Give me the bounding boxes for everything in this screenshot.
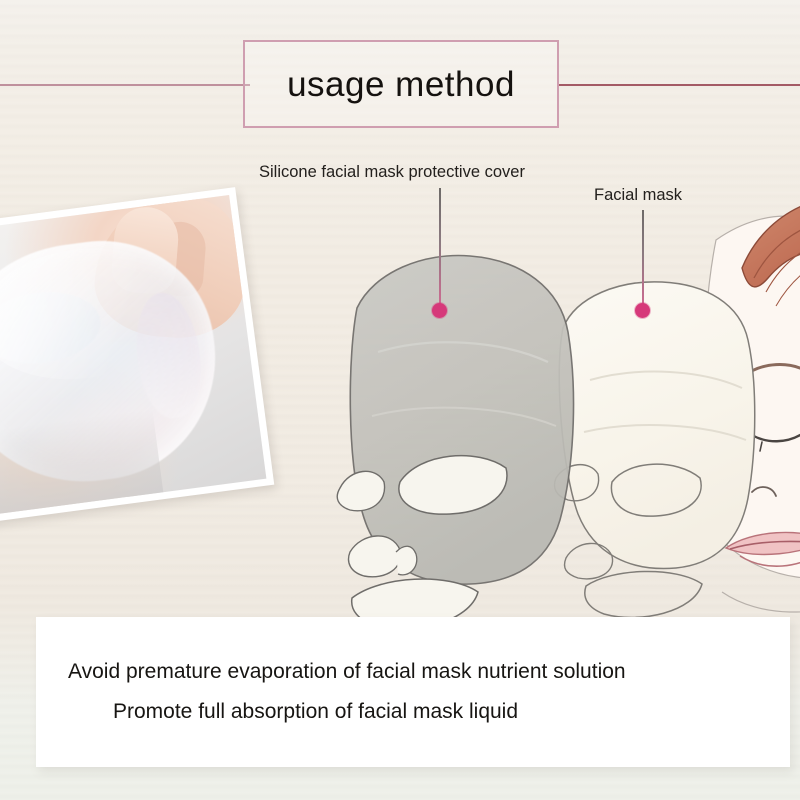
callout-label-facial-mask: Facial mask bbox=[594, 186, 682, 205]
header-rule-right bbox=[558, 84, 800, 86]
leader-line-icon bbox=[439, 188, 441, 308]
leader-line-icon bbox=[642, 210, 644, 308]
benefits-panel: Avoid premature evaporation of facial ma… bbox=[36, 617, 790, 767]
mask-illustration bbox=[0, 140, 800, 620]
title-box: usage method bbox=[243, 40, 559, 128]
bullet-dot-icon bbox=[432, 303, 447, 318]
page-title: usage method bbox=[287, 67, 515, 102]
header-rule-left bbox=[0, 84, 250, 86]
bullet-dot-icon bbox=[635, 303, 650, 318]
silicone-cover-mask bbox=[337, 255, 573, 620]
usage-method-poster: usage method bbox=[0, 0, 800, 800]
callout-label-silicone-cover: Silicone facial mask protective cover bbox=[259, 163, 525, 182]
sheet-facial-mask bbox=[555, 282, 755, 618]
benefit-line-1: Avoid premature evaporation of facial ma… bbox=[68, 660, 790, 684]
benefit-line-2: Promote full absorption of facial mask l… bbox=[113, 700, 790, 724]
